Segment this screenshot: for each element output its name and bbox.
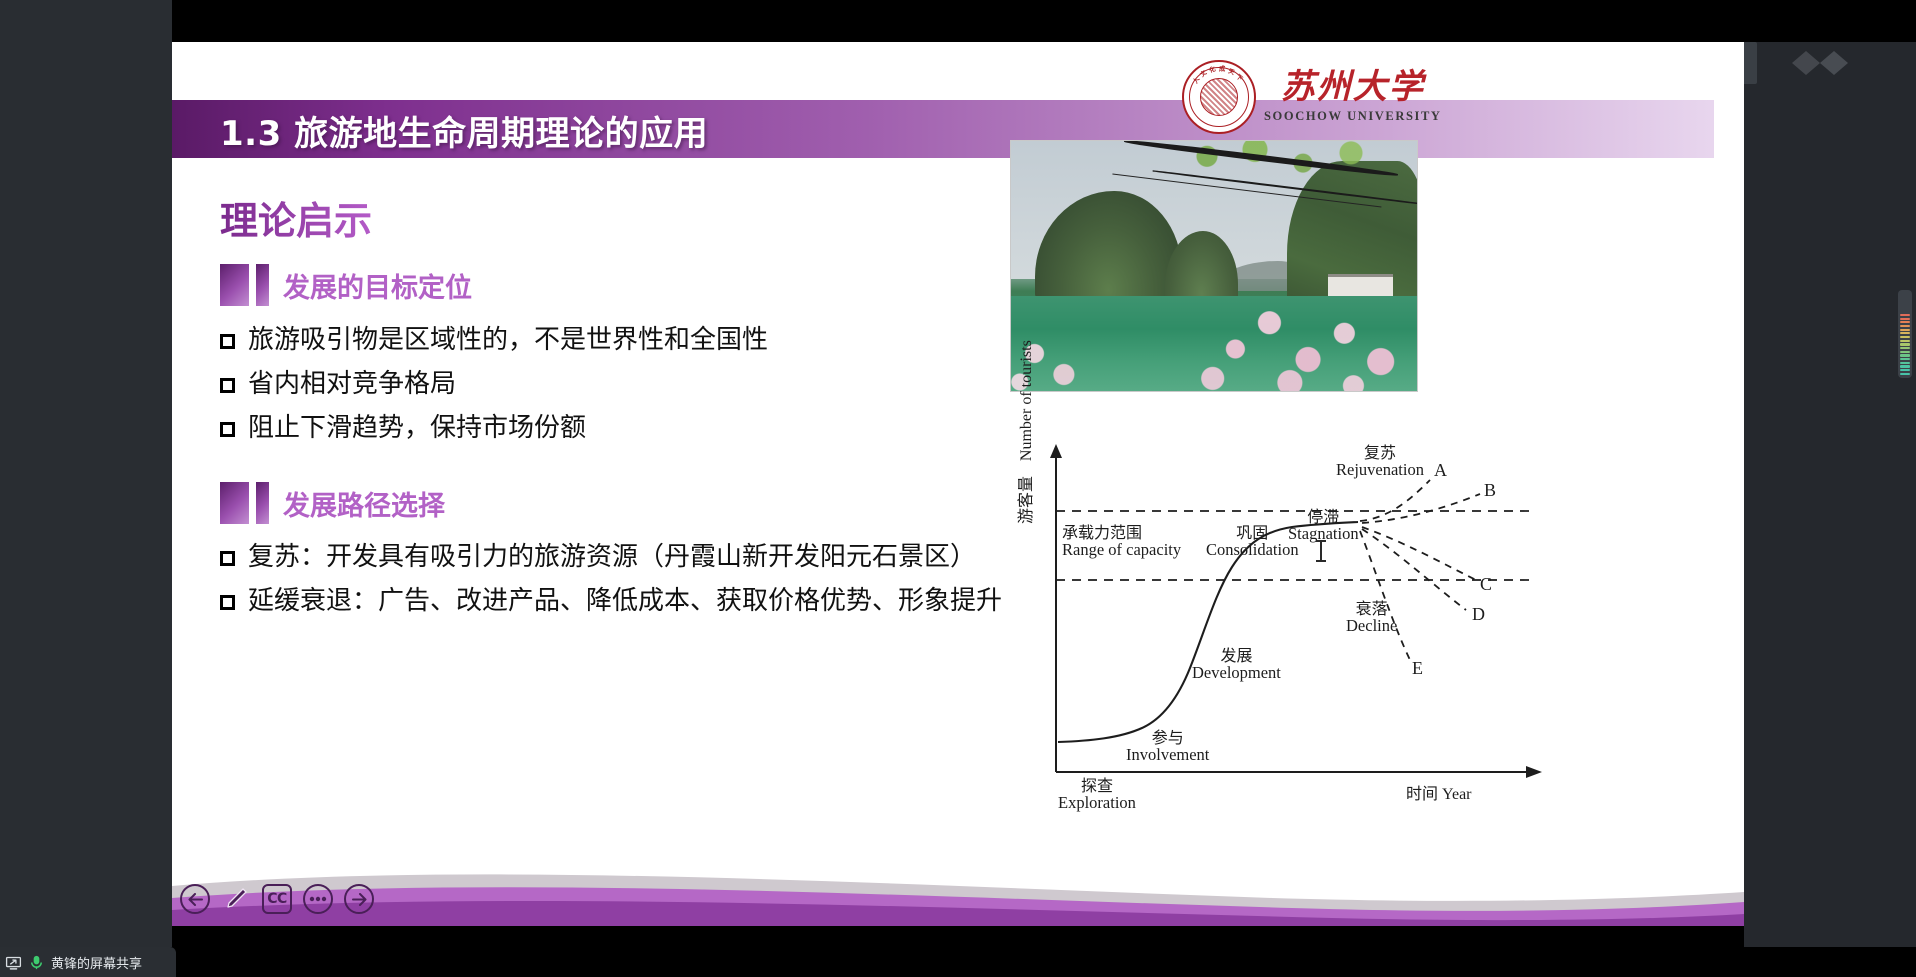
- seal-ring-text: 人 文 化 成 天 下: [1184, 62, 1254, 132]
- heading-bars-icon: [220, 482, 269, 524]
- arrow-right-icon: [352, 893, 367, 906]
- x-axis-arrow: [1526, 766, 1542, 778]
- bullet-text: 阻止下滑趋势，保持市场份额: [248, 414, 586, 444]
- text-cursor-pointer: [1320, 540, 1322, 562]
- group-1-label: 发展的目标定位: [283, 266, 472, 305]
- desktop-bottom-background: [0, 947, 1916, 977]
- bullet-text: 省内相对竞争格局: [248, 370, 456, 400]
- branch-letter-b: B: [1484, 480, 1496, 501]
- university-seal-icon: 人 文 化 成 天 下: [1182, 60, 1256, 134]
- content-group-1: 发展的目标定位: [220, 264, 472, 306]
- square-bullet-icon: [220, 595, 235, 610]
- microphone-green-icon: [28, 954, 45, 971]
- bullet-text: 旅游吸引物是区域性的，不是世界性和全国性: [248, 326, 768, 356]
- branch-E: [1360, 531, 1410, 660]
- heading-bars-icon: [220, 264, 269, 306]
- photo-blossoms-right: [1190, 286, 1417, 391]
- stage-label-consolidation: 巩固 Consolidation: [1206, 524, 1299, 559]
- bullet-item: 省内相对竞争格局: [220, 370, 456, 400]
- pen-icon: [223, 886, 249, 912]
- bullet-item: 复苏：开发具有吸引力的旅游资源（丹霞山新开发阳元石景区）: [220, 543, 976, 573]
- x-axis-label-en: Year: [1442, 786, 1471, 803]
- bullet-item: 延缓衰退：广告、改进产品、降低成本、获取价格优势、形象提升: [220, 587, 1002, 617]
- taskbar-share-item[interactable]: 黄锋的屏幕共享: [0, 947, 176, 977]
- group-heading: 发展的目标定位: [220, 264, 472, 306]
- branch-letter-e: E: [1412, 658, 1423, 679]
- square-bullet-icon: [220, 422, 235, 437]
- slide-footer-decoration: [172, 840, 1744, 926]
- wordmark-cn: 苏州大学: [1281, 70, 1425, 104]
- double-chevron-icon: [1790, 48, 1870, 78]
- slide-title: 1.3 旅游地生命周期理论的应用: [220, 106, 708, 155]
- stage-label-involvement: 参与 Involvement: [1126, 729, 1209, 764]
- capacity-label-cn: 承载力范围: [1062, 524, 1181, 541]
- bullet-item: 阻止下滑趋势，保持市场份额: [220, 414, 586, 444]
- desktop-left-background: [0, 0, 172, 947]
- branch-A: [1360, 480, 1430, 521]
- stage-label-decline: 衰落 Decline: [1346, 600, 1397, 635]
- university-logo: 人 文 化 成 天 下 苏州大学 SOOCHOW UNIVERSITY: [1182, 60, 1442, 134]
- desktop-top-background: [172, 0, 1916, 42]
- section-title: 理论启示: [220, 190, 372, 245]
- screen-share-window: 正在讲话: 黄锋; 1.3 旅游地生命周期理论的应用 人 文 化 成 天 下: [0, 0, 1916, 977]
- annotate-button[interactable]: [221, 884, 251, 914]
- y-axis-label-en: Number of tourists: [1018, 340, 1035, 461]
- previous-slide-button[interactable]: [180, 884, 210, 914]
- bullet-text: 复苏：开发具有吸引力的旅游资源（丹霞山新开发阳元石景区）: [248, 543, 976, 573]
- next-slide-button[interactable]: [344, 884, 374, 914]
- y-axis-label: 游客量 Number of tourists: [1012, 340, 1036, 524]
- university-wordmark: 苏州大学 SOOCHOW UNIVERSITY: [1264, 70, 1442, 124]
- tourism-life-cycle-chart: 游客量 Number of tourists 承载力范围 Range of ca…: [1010, 432, 1570, 792]
- capacity-label-en: Range of capacity: [1062, 541, 1181, 559]
- group-heading: 发展路径选择: [220, 482, 445, 524]
- branch-letter-d: D: [1472, 604, 1485, 625]
- square-bullet-icon: [220, 551, 235, 566]
- taskbar-label: 黄锋的屏幕共享: [51, 953, 142, 972]
- presentation-toolbar: CC: [180, 884, 374, 914]
- capacity-range-label: 承载力范围 Range of capacity: [1062, 524, 1181, 559]
- ellipsis-icon: [309, 896, 327, 902]
- photo-foreground-branch: [1117, 141, 1417, 226]
- wordmark-en: SOOCHOW UNIVERSITY: [1264, 109, 1442, 124]
- group-2-label: 发展路径选择: [283, 484, 445, 523]
- y-axis-label-cn: 游客量: [1016, 476, 1035, 524]
- x-axis-label-cn: 时间: [1406, 784, 1438, 803]
- captions-button[interactable]: CC: [262, 884, 292, 914]
- more-options-button[interactable]: [303, 884, 333, 914]
- bullet-text: 延缓衰退：广告、改进产品、降低成本、获取价格优势、形象提升: [248, 587, 1002, 617]
- screen-share-icon: [5, 954, 22, 971]
- branch-letter-c: C: [1480, 574, 1492, 595]
- stage-label-rejuvenation: 复苏 Rejuvenation: [1336, 444, 1424, 479]
- scenery-photo: [1010, 140, 1418, 392]
- content-group-2: 发展路径选择: [220, 482, 445, 524]
- presentation-slide: 1.3 旅游地生命周期理论的应用 人 文 化 成 天 下 苏州大学 SOOCHO…: [172, 42, 1744, 926]
- stage-label-exploration: 探查 Exploration: [1058, 777, 1136, 812]
- desktop-right-background: [1744, 42, 1916, 947]
- audio-level-meter[interactable]: [1898, 290, 1912, 378]
- y-axis-arrow: [1050, 444, 1062, 458]
- stage-label-development: 发展 Development: [1192, 647, 1281, 682]
- x-axis-label: 时间 Year: [1406, 780, 1472, 804]
- branch-D: [1362, 529, 1466, 610]
- stage-label-stagnation: 停滞 Stagnation: [1288, 508, 1359, 543]
- arrow-left-icon: [188, 893, 203, 906]
- square-bullet-icon: [220, 378, 235, 393]
- branch-B: [1362, 494, 1480, 523]
- branch-letter-a: A: [1434, 460, 1447, 481]
- cc-icon: CC: [267, 891, 287, 907]
- square-bullet-icon: [220, 334, 235, 349]
- bullet-item: 旅游吸引物是区域性的，不是世界性和全国性: [220, 326, 768, 356]
